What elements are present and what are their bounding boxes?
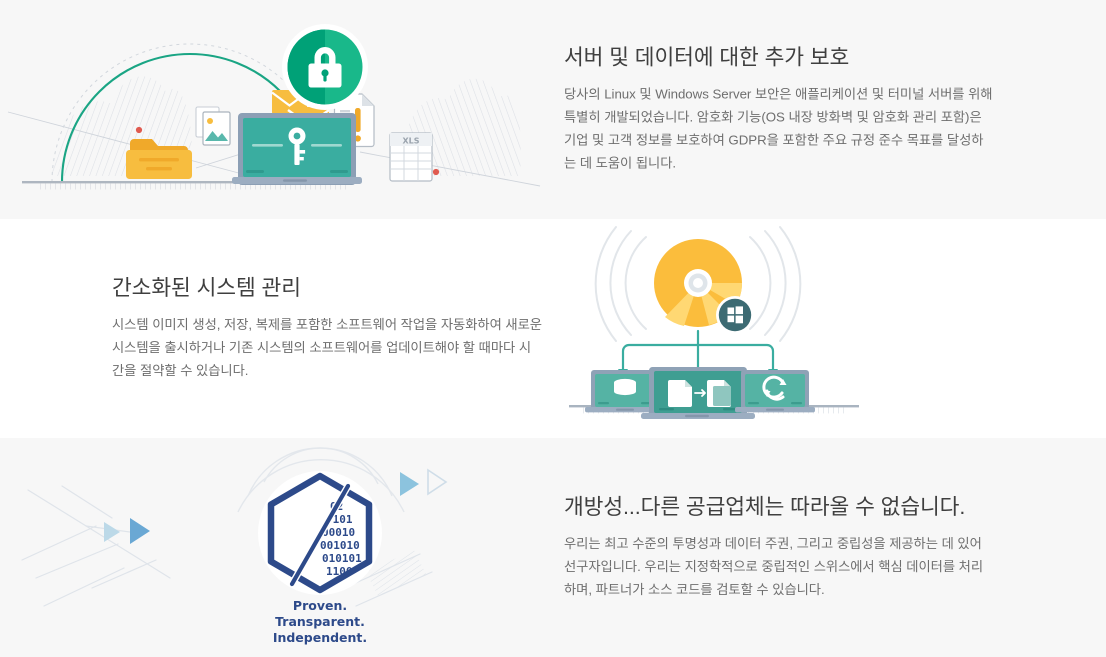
section-body-text: 당사의 Linux 및 Windows Server 보안은 애플리케이션 및 … <box>564 84 994 175</box>
database-glyph <box>614 379 636 395</box>
caption-line-2: Transparent. <box>275 614 365 629</box>
badge-caption: Proven. Transparent. Independent. <box>273 598 367 645</box>
svg-text:XLS: XLS <box>402 136 419 145</box>
section-simplified-system-management: 간소화된 시스템 관리 시스템 이미지 생성, 저장, 복제를 포함한 소프트웨… <box>0 219 1106 438</box>
section-3-text-column: 개방성...다른 공급업체는 따라올 수 없습니다. 우리는 최고 수준의 투명… <box>553 438 1106 657</box>
feature-sections-page: XLS <box>0 0 1106 657</box>
page-title: 서버 및 데이터에 대한 추가 보호 <box>564 44 994 71</box>
svg-text:1100: 1100 <box>326 565 353 578</box>
marker-dot-left <box>136 127 142 133</box>
deployment-illustration-svg <box>553 219 1106 438</box>
openness-illustration-svg: 02 0101 00010 001010 010101 1100 Proven.… <box>0 438 553 657</box>
security-illustration-svg: XLS <box>0 0 553 219</box>
caption-line-1: Proven. <box>293 598 347 613</box>
marker-dot-right <box>433 169 439 175</box>
laptop-key-icon <box>232 113 362 185</box>
lock-shield-security-illustration: XLS <box>0 0 553 219</box>
page-title: 개방성...다른 공급업체는 따라올 수 없습니다. <box>564 493 994 520</box>
section-openness-transparency: 02 0101 00010 001010 010101 1100 Proven.… <box>0 438 1106 657</box>
caption-line-3: Independent. <box>273 630 367 645</box>
svg-text:001010: 001010 <box>320 539 360 552</box>
image-file-icon <box>196 107 230 145</box>
proven-transparent-independent-badge: 02 0101 00010 001010 010101 1100 Proven.… <box>0 438 553 657</box>
section-2-text-column: 간소화된 시스템 관리 시스템 이미지 생성, 저장, 복제를 포함한 소프트웨… <box>0 219 553 438</box>
svg-text:010101: 010101 <box>322 552 362 565</box>
section-server-data-protection: XLS <box>0 0 1106 219</box>
spreadsheet-xls-icon: XLS <box>390 133 432 181</box>
section-body-text: 시스템 이미지 생성, 저장, 복제를 포함한 소프트웨어 작업을 자동화하여 … <box>112 314 542 383</box>
disc-deployment-illustration <box>553 219 1106 438</box>
page-title: 간소화된 시스템 관리 <box>112 274 542 301</box>
section-1-text-column: 서버 및 데이터에 대한 추가 보호 당사의 Linux 및 Windows S… <box>553 0 1106 219</box>
windows-badge-icon <box>716 296 754 334</box>
padlock-icon <box>282 24 368 110</box>
section-body-text: 우리는 최고 수준의 투명성과 데이터 주권, 그리고 중립성을 제공하는 데 … <box>564 533 994 602</box>
arrow-down-icon <box>623 331 773 369</box>
laptop-sync-icon <box>735 370 815 412</box>
